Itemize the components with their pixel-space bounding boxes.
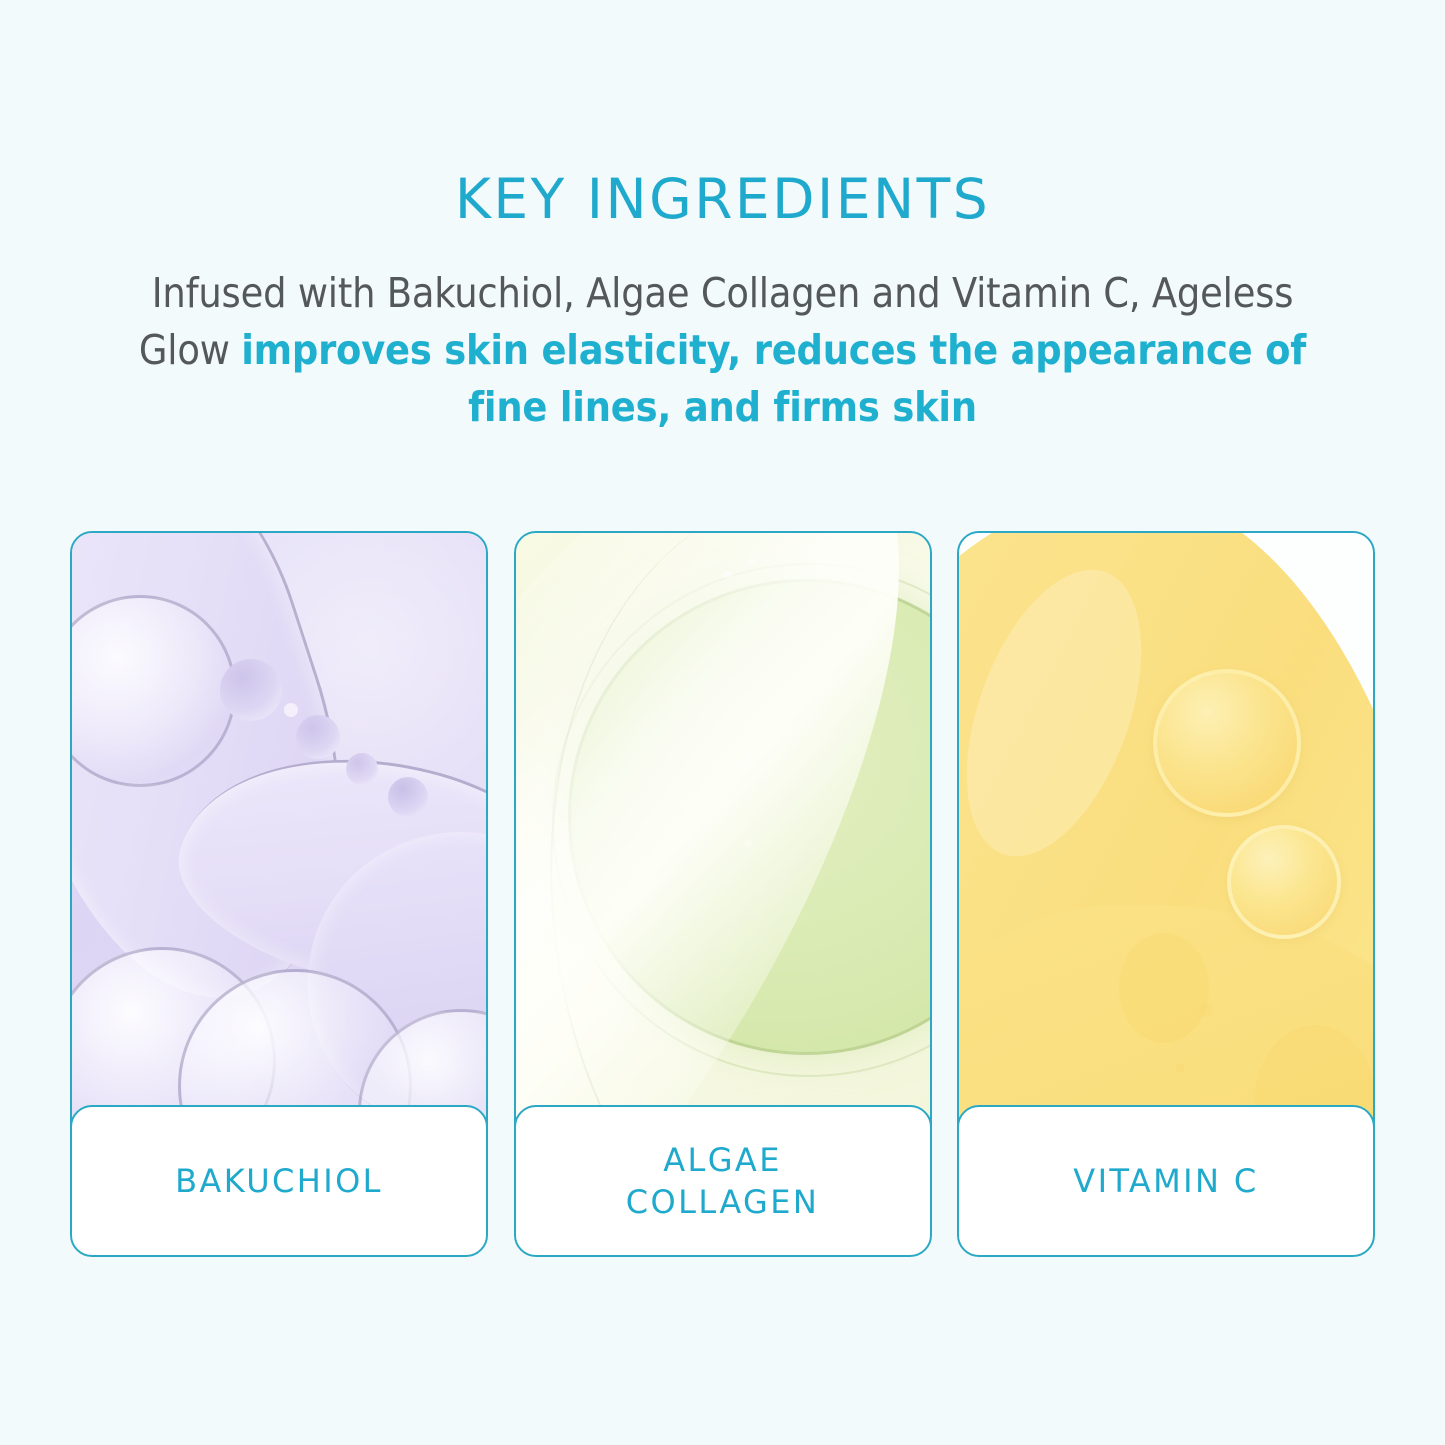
ingredient-card-row: BAKUCHIOL ALGAE COLLAGEN [70, 531, 1375, 1257]
page-title: KEY INGREDIENTS [0, 0, 1445, 227]
ingredient-label-text: VITAMIN C [1073, 1160, 1258, 1202]
bubble-shape [1119, 933, 1209, 1043]
bubble-shape [388, 777, 428, 817]
ingredient-label-algae-collagen: ALGAE COLLAGEN [514, 1105, 932, 1257]
ingredient-card-bakuchiol[interactable]: BAKUCHIOL [70, 531, 488, 1257]
subtitle-highlight-text: improves skin elasticity, reduces the ap… [241, 326, 1306, 431]
ingredient-card-vitamin-c[interactable]: VITAMIN C [957, 531, 1375, 1257]
ingredient-label-vitamin-c: VITAMIN C [957, 1105, 1375, 1257]
ingredient-label-text: ALGAE COLLAGEN [626, 1139, 819, 1223]
bubble-shape [1199, 1003, 1213, 1017]
bubble-shape [346, 753, 378, 785]
bubble-shape [748, 559, 755, 564]
bubble-shape [284, 703, 298, 717]
ingredient-card-algae-collagen[interactable]: ALGAE COLLAGEN [514, 531, 932, 1257]
ingredient-label-bakuchiol: BAKUCHIOL [70, 1105, 488, 1257]
bubble-shape [1175, 1063, 1185, 1073]
bubble-shape [1153, 669, 1301, 817]
bubble-shape [722, 571, 732, 578]
bubble-shape [220, 659, 282, 721]
bubble-shape [296, 715, 340, 759]
bubble-shape [1227, 825, 1341, 939]
header: KEY INGREDIENTS Infused with Bakuchiol, … [0, 0, 1445, 436]
ingredient-label-text: BAKUCHIOL [175, 1160, 383, 1202]
bubble-shape [744, 839, 753, 848]
page-subtitle: Infused with Bakuchiol, Algae Collagen a… [113, 227, 1333, 436]
